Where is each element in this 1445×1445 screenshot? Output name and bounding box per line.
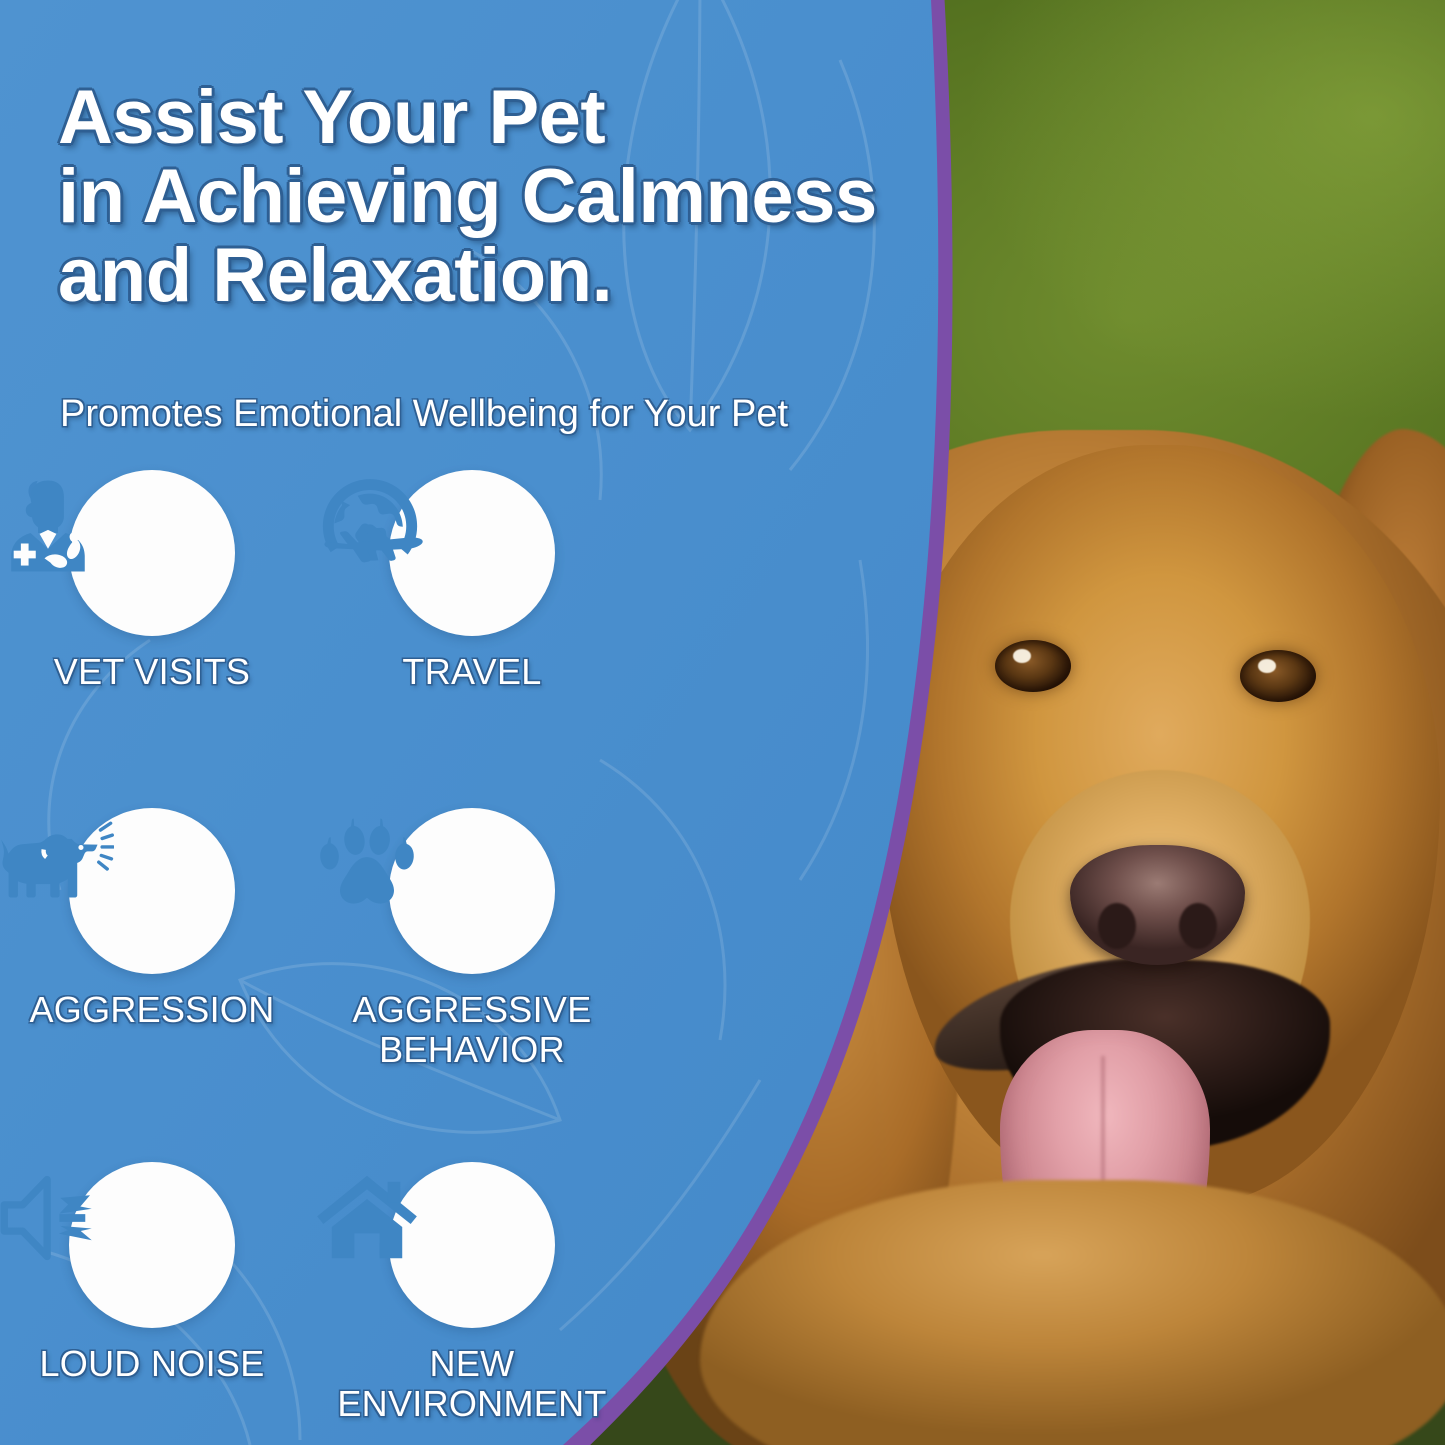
dog-eye-right bbox=[1240, 650, 1316, 702]
benefit-item-loud-noise: LOUD NOISE bbox=[0, 1162, 312, 1384]
house-icon bbox=[389, 1162, 555, 1328]
veterinarian-icon bbox=[69, 470, 235, 636]
benefit-label: LOUD NOISE bbox=[0, 1344, 312, 1384]
dog-eye-left bbox=[995, 640, 1071, 692]
benefit-label: VET VISITS bbox=[0, 652, 312, 692]
benefit-item-aggressive-behavior: AGGRESSIVE BEHAVIOR bbox=[312, 808, 632, 1071]
page-title: Assist Your Pet in Achieving Calmness an… bbox=[58, 78, 928, 315]
benefit-label: AGGRESSIVE BEHAVIOR bbox=[312, 990, 632, 1071]
speaker-loud-icon bbox=[69, 1162, 235, 1328]
benefit-label: TRAVEL bbox=[312, 652, 632, 692]
globe-airplane-icon bbox=[389, 470, 555, 636]
blue-content-panel: Assist Your Pet in Achieving Calmness an… bbox=[0, 0, 1000, 1445]
headline-line-3: and Relaxation. bbox=[58, 236, 928, 315]
benefit-item-vet-visits: VET VISITS bbox=[0, 470, 312, 692]
benefit-item-travel: TRAVEL bbox=[312, 470, 632, 692]
benefit-item-aggression: AGGRESSION bbox=[0, 808, 312, 1030]
headline-line-1: Assist Your Pet bbox=[58, 78, 928, 157]
headline-line-2: in Achieving Calmness bbox=[58, 157, 928, 236]
promo-banner: Assist Your Pet in Achieving Calmness an… bbox=[0, 0, 1445, 1445]
benefit-label: AGGRESSION bbox=[0, 990, 312, 1030]
benefit-item-new-environment: NEW ENVIRONMENT bbox=[312, 1162, 632, 1425]
paw-print-icon bbox=[389, 808, 555, 974]
subheadline: Promotes Emotional Wellbeing for Your Pe… bbox=[60, 393, 788, 436]
barking-dog-icon bbox=[69, 808, 235, 974]
benefit-label: NEW ENVIRONMENT bbox=[312, 1344, 632, 1425]
